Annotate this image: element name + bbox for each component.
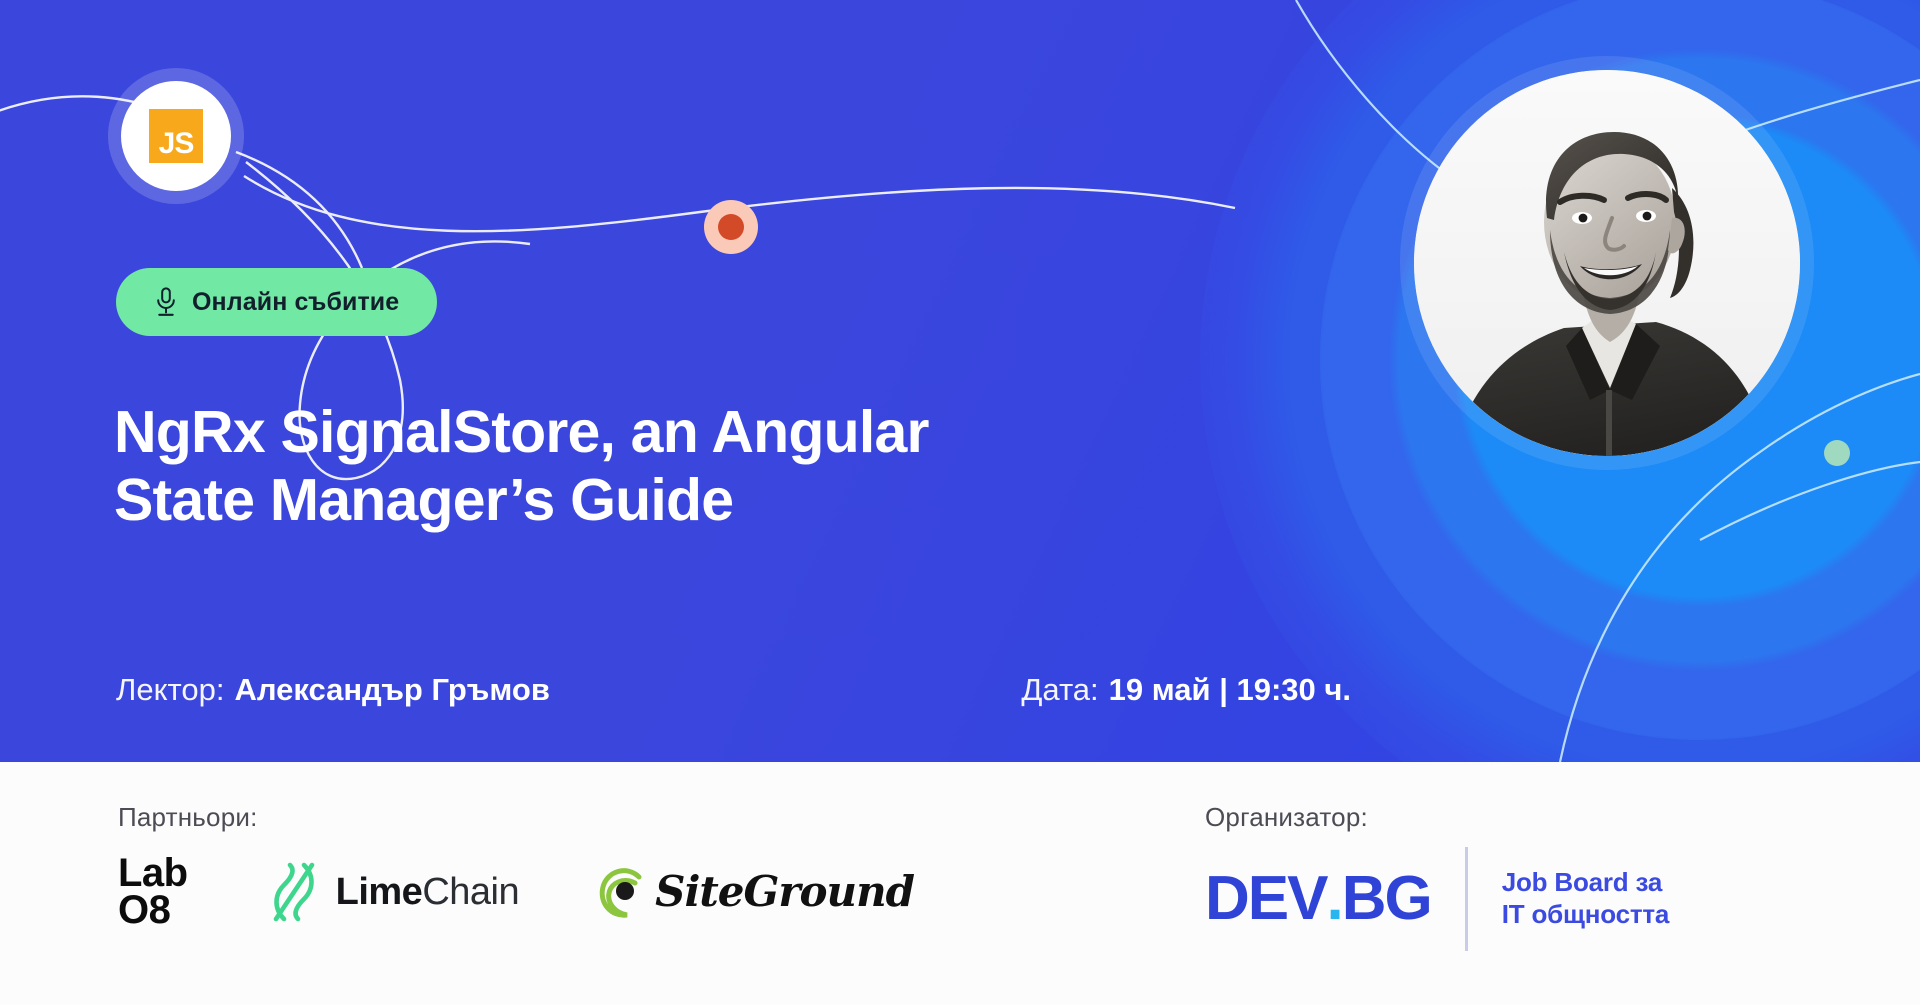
limechain-word-light: Chain <box>422 871 519 913</box>
organizer-label: Организатор: <box>1205 802 1368 833</box>
event-meta-row: Лектор: Александър Гръмов Дата: 19 май |… <box>116 672 1446 708</box>
devbg-logo: DEV.BG <box>1205 868 1431 930</box>
speaker-portrait <box>1414 70 1800 456</box>
speaker-block: Лектор: Александър Гръмов <box>116 672 550 708</box>
devbg-word-dev: DEV <box>1205 868 1326 930</box>
event-banner: JS Онлайн събитие NgRx SignalStore, an A… <box>0 0 1920 1005</box>
organizer-tagline: Job Board за IT общността <box>1502 867 1669 930</box>
siteground-mark-icon <box>597 863 649 921</box>
limechain-mark-icon <box>266 859 322 925</box>
lab08-line-1: Lab <box>118 855 188 892</box>
partners-label: Партньори: <box>118 802 914 833</box>
limechain-wordmark: LimeChain <box>336 873 520 911</box>
siteground-logo: SiteGround <box>597 863 914 921</box>
speaker-label: Лектор: <box>116 672 224 708</box>
online-event-badge: Онлайн събитие <box>116 268 437 336</box>
lab08-logo: Lab O8 <box>118 855 188 929</box>
partners-block: Партньори: Lab O8 <box>118 802 914 929</box>
organizer-divider <box>1465 847 1468 951</box>
date-block: Дата: 19 май | 19:30 ч. <box>1021 672 1446 708</box>
javascript-logo-icon: JS <box>121 81 231 191</box>
hero-section: JS Онлайн събитие NgRx SignalStore, an A… <box>0 0 1920 762</box>
speaker-portrait-image <box>1414 70 1800 456</box>
organizer-tagline-line-1: Job Board за <box>1502 867 1669 899</box>
siteground-wordmark: SiteGround <box>655 867 914 916</box>
event-title: NgRx SignalStore, an Angular State Manag… <box>114 398 1244 535</box>
accent-dot-green <box>1824 440 1850 466</box>
footer-section: Партньори: Lab O8 <box>0 762 1920 1005</box>
event-title-line-1: NgRx SignalStore, an Angular <box>114 399 929 465</box>
limechain-logo: LimeChain <box>266 859 520 925</box>
devbg-dot: . <box>1326 868 1341 930</box>
event-title-line-2: State Manager’s Guide <box>114 466 1244 534</box>
partner-logo-list: Lab O8 LimeChain <box>118 855 914 929</box>
badge-label: Онлайн събитие <box>192 288 399 317</box>
organizer-logo-row: DEV.BG Job Board за IT общността <box>1205 847 1669 951</box>
microphone-icon <box>154 287 178 317</box>
speaker-name: Александър Гръмов <box>234 672 549 708</box>
date-value: 19 май | 19:30 ч. <box>1109 672 1351 708</box>
limechain-word-bold: Lime <box>336 871 423 913</box>
lab08-line-2: O8 <box>118 892 188 929</box>
devbg-word-bg: BG <box>1342 868 1431 930</box>
organizer-tagline-line-2: IT общността <box>1502 899 1669 931</box>
js-square-label: JS <box>149 109 203 163</box>
accent-dot-orange-inner <box>718 214 744 240</box>
date-label: Дата: <box>1021 672 1098 708</box>
organizer-block: Организатор: DEV.BG Job Board за IT общн… <box>1205 802 1669 951</box>
